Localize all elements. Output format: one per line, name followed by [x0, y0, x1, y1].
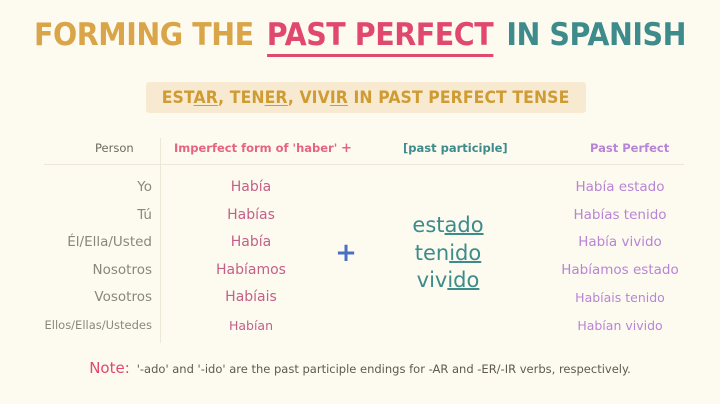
table-row: Habían [168, 312, 334, 340]
table-row: Habías tenido [520, 202, 720, 230]
subtitle-estar-stem: EST [162, 88, 194, 107]
column-header-plus-sign: + [341, 141, 352, 156]
table-row: Habíamos estado [520, 257, 720, 285]
column-person: Yo Tú Él/Ella/Usted Nosotros Vosotros El… [0, 174, 152, 339]
table-row: Habíamos [168, 257, 334, 285]
subtitle-er-ending: ER [265, 88, 288, 107]
subtitle-banner: ESTAR, TENER, VIVIR IN PAST PERFECT TENS… [146, 82, 586, 113]
participle-estado: estado [378, 212, 518, 240]
table-row: Vosotros [0, 284, 152, 312]
participle-vivido: vivido [378, 267, 518, 295]
participle-tenido: tenido [378, 240, 518, 268]
subtitle-ar-ending: AR [194, 88, 219, 107]
table-body: Yo Tú Él/Ella/Usted Nosotros Vosotros El… [0, 174, 720, 344]
note-label: Note: [89, 359, 130, 377]
participle-stem: ten [415, 241, 449, 265]
table-row: Había vivido [520, 229, 720, 257]
table-row: Habíais [168, 284, 334, 312]
table-row: Habíais tenido [520, 284, 720, 312]
subtitle-tener-stem: , TEN [219, 88, 265, 107]
participle-ending: ido [447, 268, 479, 292]
column-haber-forms: Había Habías Había Habíamos Habíais Habí… [168, 174, 334, 339]
past-participle-list: estado tenido vivido [378, 212, 518, 295]
table-row: Él/Ella/Usted [0, 229, 152, 257]
table-row: Había [168, 229, 334, 257]
title-segment-in-spanish: IN SPANISH [506, 17, 686, 53]
subtitle-suffix: IN PAST PERFECT TENSE [348, 88, 569, 107]
table-row: Tú [0, 202, 152, 230]
column-header-past-perfect: Past Perfect [590, 141, 669, 155]
page-title: FORMING THE PAST PERFECT IN SPANISH [29, 17, 691, 53]
participle-stem: est [412, 213, 444, 237]
participle-ending: ido [449, 241, 481, 265]
table-row: Había [168, 174, 334, 202]
column-past-perfect: Había estado Habías tenido Había vivido … [520, 174, 720, 339]
infographic-page: FORMING THE PAST PERFECT IN SPANISH ESTA… [0, 0, 720, 404]
table-row: Yo [0, 174, 152, 202]
title-segment-past-perfect: PAST PERFECT [267, 17, 493, 57]
column-header-haber: Imperfect form of 'haber' [174, 141, 337, 155]
column-header-person: Person [95, 141, 134, 155]
table-row: Había estado [520, 174, 720, 202]
plus-sign-icon: + [332, 240, 360, 266]
table-row: Ellos/Ellas/Ustedes [0, 312, 152, 340]
conjugation-table: Person Imperfect form of 'haber' + [past… [0, 138, 720, 164]
participle-stem: viv [417, 268, 448, 292]
note-body: '-ado' and '-ido' are the past participl… [137, 362, 631, 376]
header-divider [44, 164, 684, 165]
subtitle-ir-ending: IR [330, 88, 348, 107]
table-row: Nosotros [0, 257, 152, 285]
column-header-past-participle: [past participle] [403, 141, 508, 155]
table-row: Habías [168, 202, 334, 230]
table-header-row: Person Imperfect form of 'haber' + [past… [0, 138, 720, 164]
table-row: Habían vivido [520, 312, 720, 340]
subtitle-text: ESTAR, TENER, VIVIR IN PAST PERFECT TENS… [162, 88, 570, 107]
subtitle-vivir-stem: , VIV [288, 88, 330, 107]
footer-note: Note:'-ado' and '-ido' are the past part… [0, 358, 720, 377]
title-segment-forming-the: FORMING THE [34, 17, 254, 53]
participle-ending: ado [445, 213, 484, 237]
